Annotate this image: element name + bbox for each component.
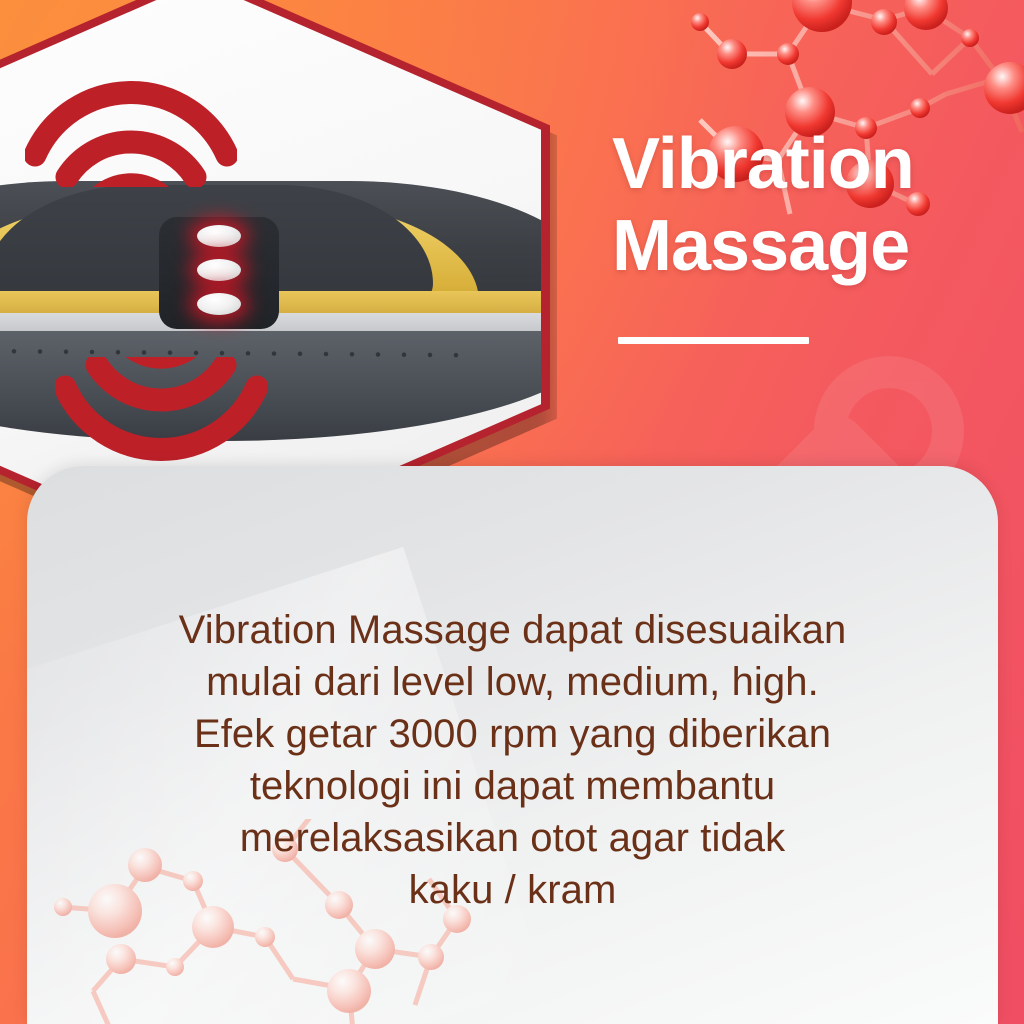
led-indicator xyxy=(197,225,241,247)
title-line-2: Massage xyxy=(612,212,1004,280)
vibration-massage-poster: Vibration Massage xyxy=(0,0,1024,1024)
vibration-wave-icon xyxy=(55,357,267,465)
title-underline xyxy=(618,337,809,344)
description-card: Vibration Massage dapat disesuaikan mula… xyxy=(27,466,998,1024)
description-text: Vibration Massage dapat disesuaikan mula… xyxy=(77,604,948,916)
title-line-1: Vibration xyxy=(612,124,914,204)
page-title: Vibration Massage xyxy=(612,130,1004,281)
led-indicator xyxy=(197,293,241,315)
led-panel xyxy=(159,217,279,329)
led-indicator xyxy=(197,259,241,281)
vibration-wave-icon xyxy=(25,77,237,187)
